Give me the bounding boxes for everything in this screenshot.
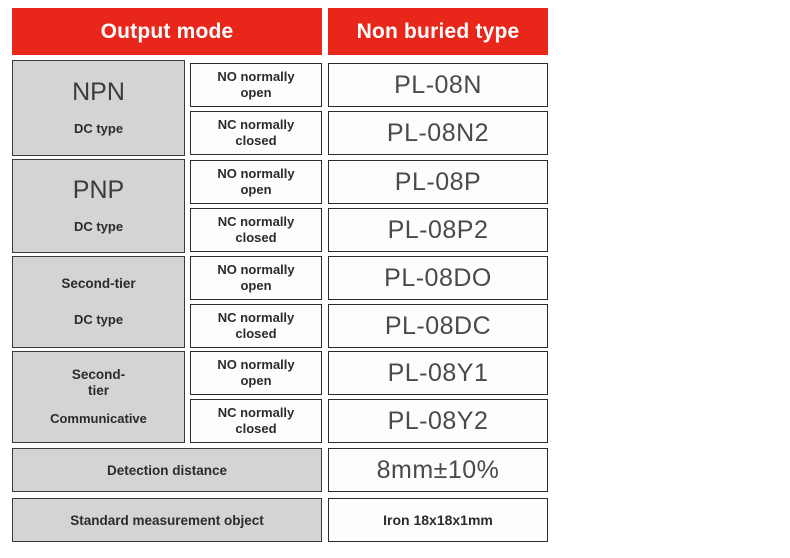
specification-table: Output mode Non buried type NPN DC type … [0, 0, 790, 558]
group-title-npn: NPN [72, 79, 125, 105]
model-cell-second-tier-comm-no: PL-08Y1 [328, 351, 548, 395]
contact-label-second-tier-dc-no: NO normally open [217, 262, 294, 295]
standard-measurement-object-label: Standard measurement object [70, 513, 264, 528]
model-cell-second-tier-dc-nc: PL-08DC [328, 304, 548, 348]
model-cell-npn-no: PL-08N [328, 63, 548, 107]
contact-cell-npn-no: NO normally open [190, 63, 322, 107]
contact-label-npn-no: NO normally open [217, 69, 294, 102]
contact-cell-npn-nc: NC normally closed [190, 111, 322, 155]
model-cell-pnp-no: PL-08P [328, 160, 548, 204]
model-number-pl08p: PL-08P [395, 168, 481, 197]
detection-distance-value: 8mm±10% [377, 456, 500, 485]
contact-line1: NC normally [218, 405, 295, 420]
detection-distance-label: Detection distance [107, 463, 227, 478]
contact-cell-second-tier-dc-no: NO normally open [190, 256, 322, 300]
summary-value-detection-distance: 8mm±10% [328, 448, 548, 492]
contact-line1: NO normally [217, 357, 294, 372]
group-title-second-tier-dc: Second-tier [61, 276, 135, 292]
contact-line2: open [240, 85, 271, 100]
group-subtitle-second-tier-dc: DC type [74, 313, 123, 328]
model-number-pl08n: PL-08N [394, 71, 482, 100]
summary-label-standard-measurement-object: Standard measurement object [12, 498, 322, 542]
model-number-pl08n2: PL-08N2 [387, 119, 489, 148]
contact-label-pnp-no: NO normally open [217, 166, 294, 199]
contact-line1: NC normally [218, 214, 295, 229]
model-cell-second-tier-dc-no: PL-08DO [328, 256, 548, 300]
group-subtitle-npn: DC type [74, 122, 123, 137]
contact-label-second-tier-dc-nc: NC normally closed [218, 310, 295, 343]
model-number-pl08p2: PL-08P2 [388, 216, 489, 245]
contact-line2: closed [235, 133, 276, 148]
model-cell-second-tier-comm-nc: PL-08Y2 [328, 399, 548, 443]
model-cell-npn-nc: PL-08N2 [328, 111, 548, 155]
header-output-mode: Output mode [12, 8, 322, 55]
output-mode-group-second-tier-communicative: Second- tier Communicative [12, 351, 185, 443]
model-number-pl08y1: PL-08Y1 [388, 359, 489, 388]
standard-measurement-object-value: Iron 18x18x1mm [383, 512, 493, 528]
contact-label-second-tier-comm-no: NO normally open [217, 357, 294, 390]
summary-value-standard-measurement-object: Iron 18x18x1mm [328, 498, 548, 542]
group-subtitle-pnp: DC type [74, 220, 123, 235]
contact-line1: NC normally [218, 310, 295, 325]
contact-cell-second-tier-dc-nc: NC normally closed [190, 304, 322, 348]
contact-cell-second-tier-comm-no: NO normally open [190, 351, 322, 395]
output-mode-group-npn: NPN DC type [12, 60, 185, 156]
group-title-line2: tier [88, 383, 109, 398]
contact-label-pnp-nc: NC normally closed [218, 214, 295, 247]
contact-line2: open [240, 278, 271, 293]
contact-line2: open [240, 373, 271, 388]
group-title-second-tier-communicative: Second- tier [72, 367, 125, 399]
group-title-line1: Second- [72, 367, 125, 382]
output-mode-group-pnp: PNP DC type [12, 159, 185, 253]
group-title-pnp: PNP [73, 177, 124, 203]
contact-cell-pnp-no: NO normally open [190, 160, 322, 204]
contact-line2: open [240, 182, 271, 197]
contact-line1: NO normally [217, 69, 294, 84]
header-non-buried-type-label: Non buried type [357, 20, 520, 44]
model-cell-pnp-nc: PL-08P2 [328, 208, 548, 252]
contact-line2: closed [235, 230, 276, 245]
contact-line2: closed [235, 421, 276, 436]
model-number-pl08do: PL-08DO [384, 264, 492, 293]
header-output-mode-label: Output mode [101, 20, 234, 44]
model-number-pl08y2: PL-08Y2 [388, 407, 489, 436]
header-non-buried-type: Non buried type [328, 8, 548, 55]
contact-cell-pnp-nc: NC normally closed [190, 208, 322, 252]
contact-line1: NC normally [218, 117, 295, 132]
summary-label-detection-distance: Detection distance [12, 448, 322, 492]
output-mode-group-second-tier-dc: Second-tier DC type [12, 256, 185, 348]
contact-label-npn-nc: NC normally closed [218, 117, 295, 150]
contact-cell-second-tier-comm-nc: NC normally closed [190, 399, 322, 443]
contact-label-second-tier-comm-nc: NC normally closed [218, 405, 295, 438]
group-subtitle-second-tier-communicative: Communicative [50, 412, 147, 427]
contact-line2: closed [235, 326, 276, 341]
contact-line1: NO normally [217, 262, 294, 277]
contact-line1: NO normally [217, 166, 294, 181]
model-number-pl08dc: PL-08DC [385, 312, 491, 341]
